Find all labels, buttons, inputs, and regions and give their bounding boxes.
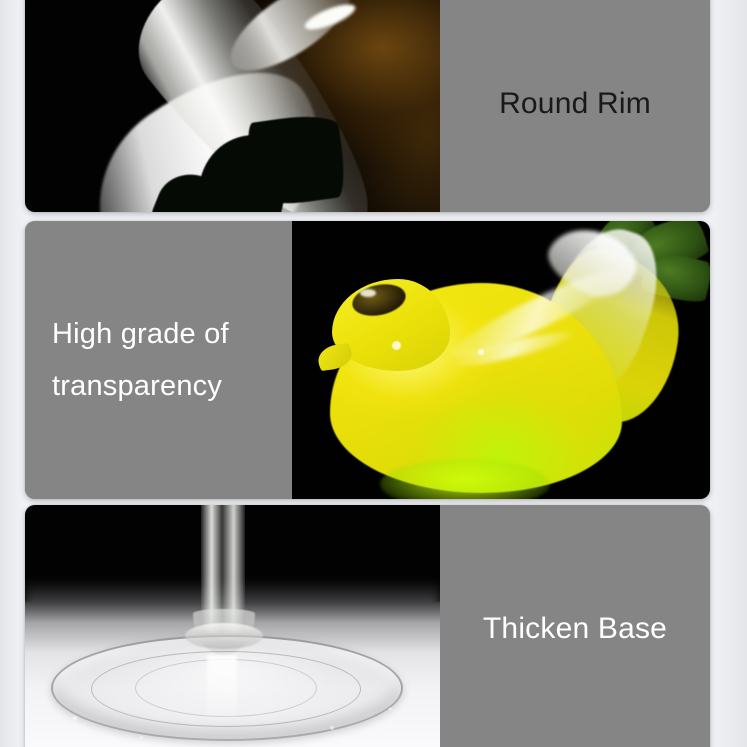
- feature-card-gallery: Round Rim High grade of transparency: [0, 0, 747, 747]
- glass-stem-collar: [185, 623, 263, 649]
- caption-pane-thicken-base: Thicken Base: [440, 505, 710, 747]
- caption-label-high-grade-transparency: High grade of transparency: [25, 308, 229, 412]
- caption-label-thicken-base: Thicken Base: [483, 603, 667, 655]
- herb-leaf-icon: [243, 111, 348, 209]
- product-photo-thicken-base: [25, 505, 440, 747]
- product-photo-round-rim: [25, 0, 440, 212]
- product-photo-bird-glass: [292, 221, 710, 499]
- caption-pane-high-grade-transparency: High grade of transparency: [25, 221, 292, 499]
- glass-eye-highlight: [360, 289, 376, 297]
- caption-label-round-rim: Round Rim: [499, 78, 651, 130]
- feature-card-thicken-base[interactable]: Thicken Base: [25, 505, 710, 747]
- drink-bubble: [478, 349, 484, 355]
- caption-pane-round-rim: Round Rim: [440, 0, 710, 212]
- glass-stem-reflection: [207, 655, 237, 719]
- drink-bubble: [392, 341, 401, 350]
- feature-card-high-grade-transparency[interactable]: High grade of transparency: [25, 221, 710, 499]
- feature-card-round-rim[interactable]: Round Rim: [25, 0, 710, 212]
